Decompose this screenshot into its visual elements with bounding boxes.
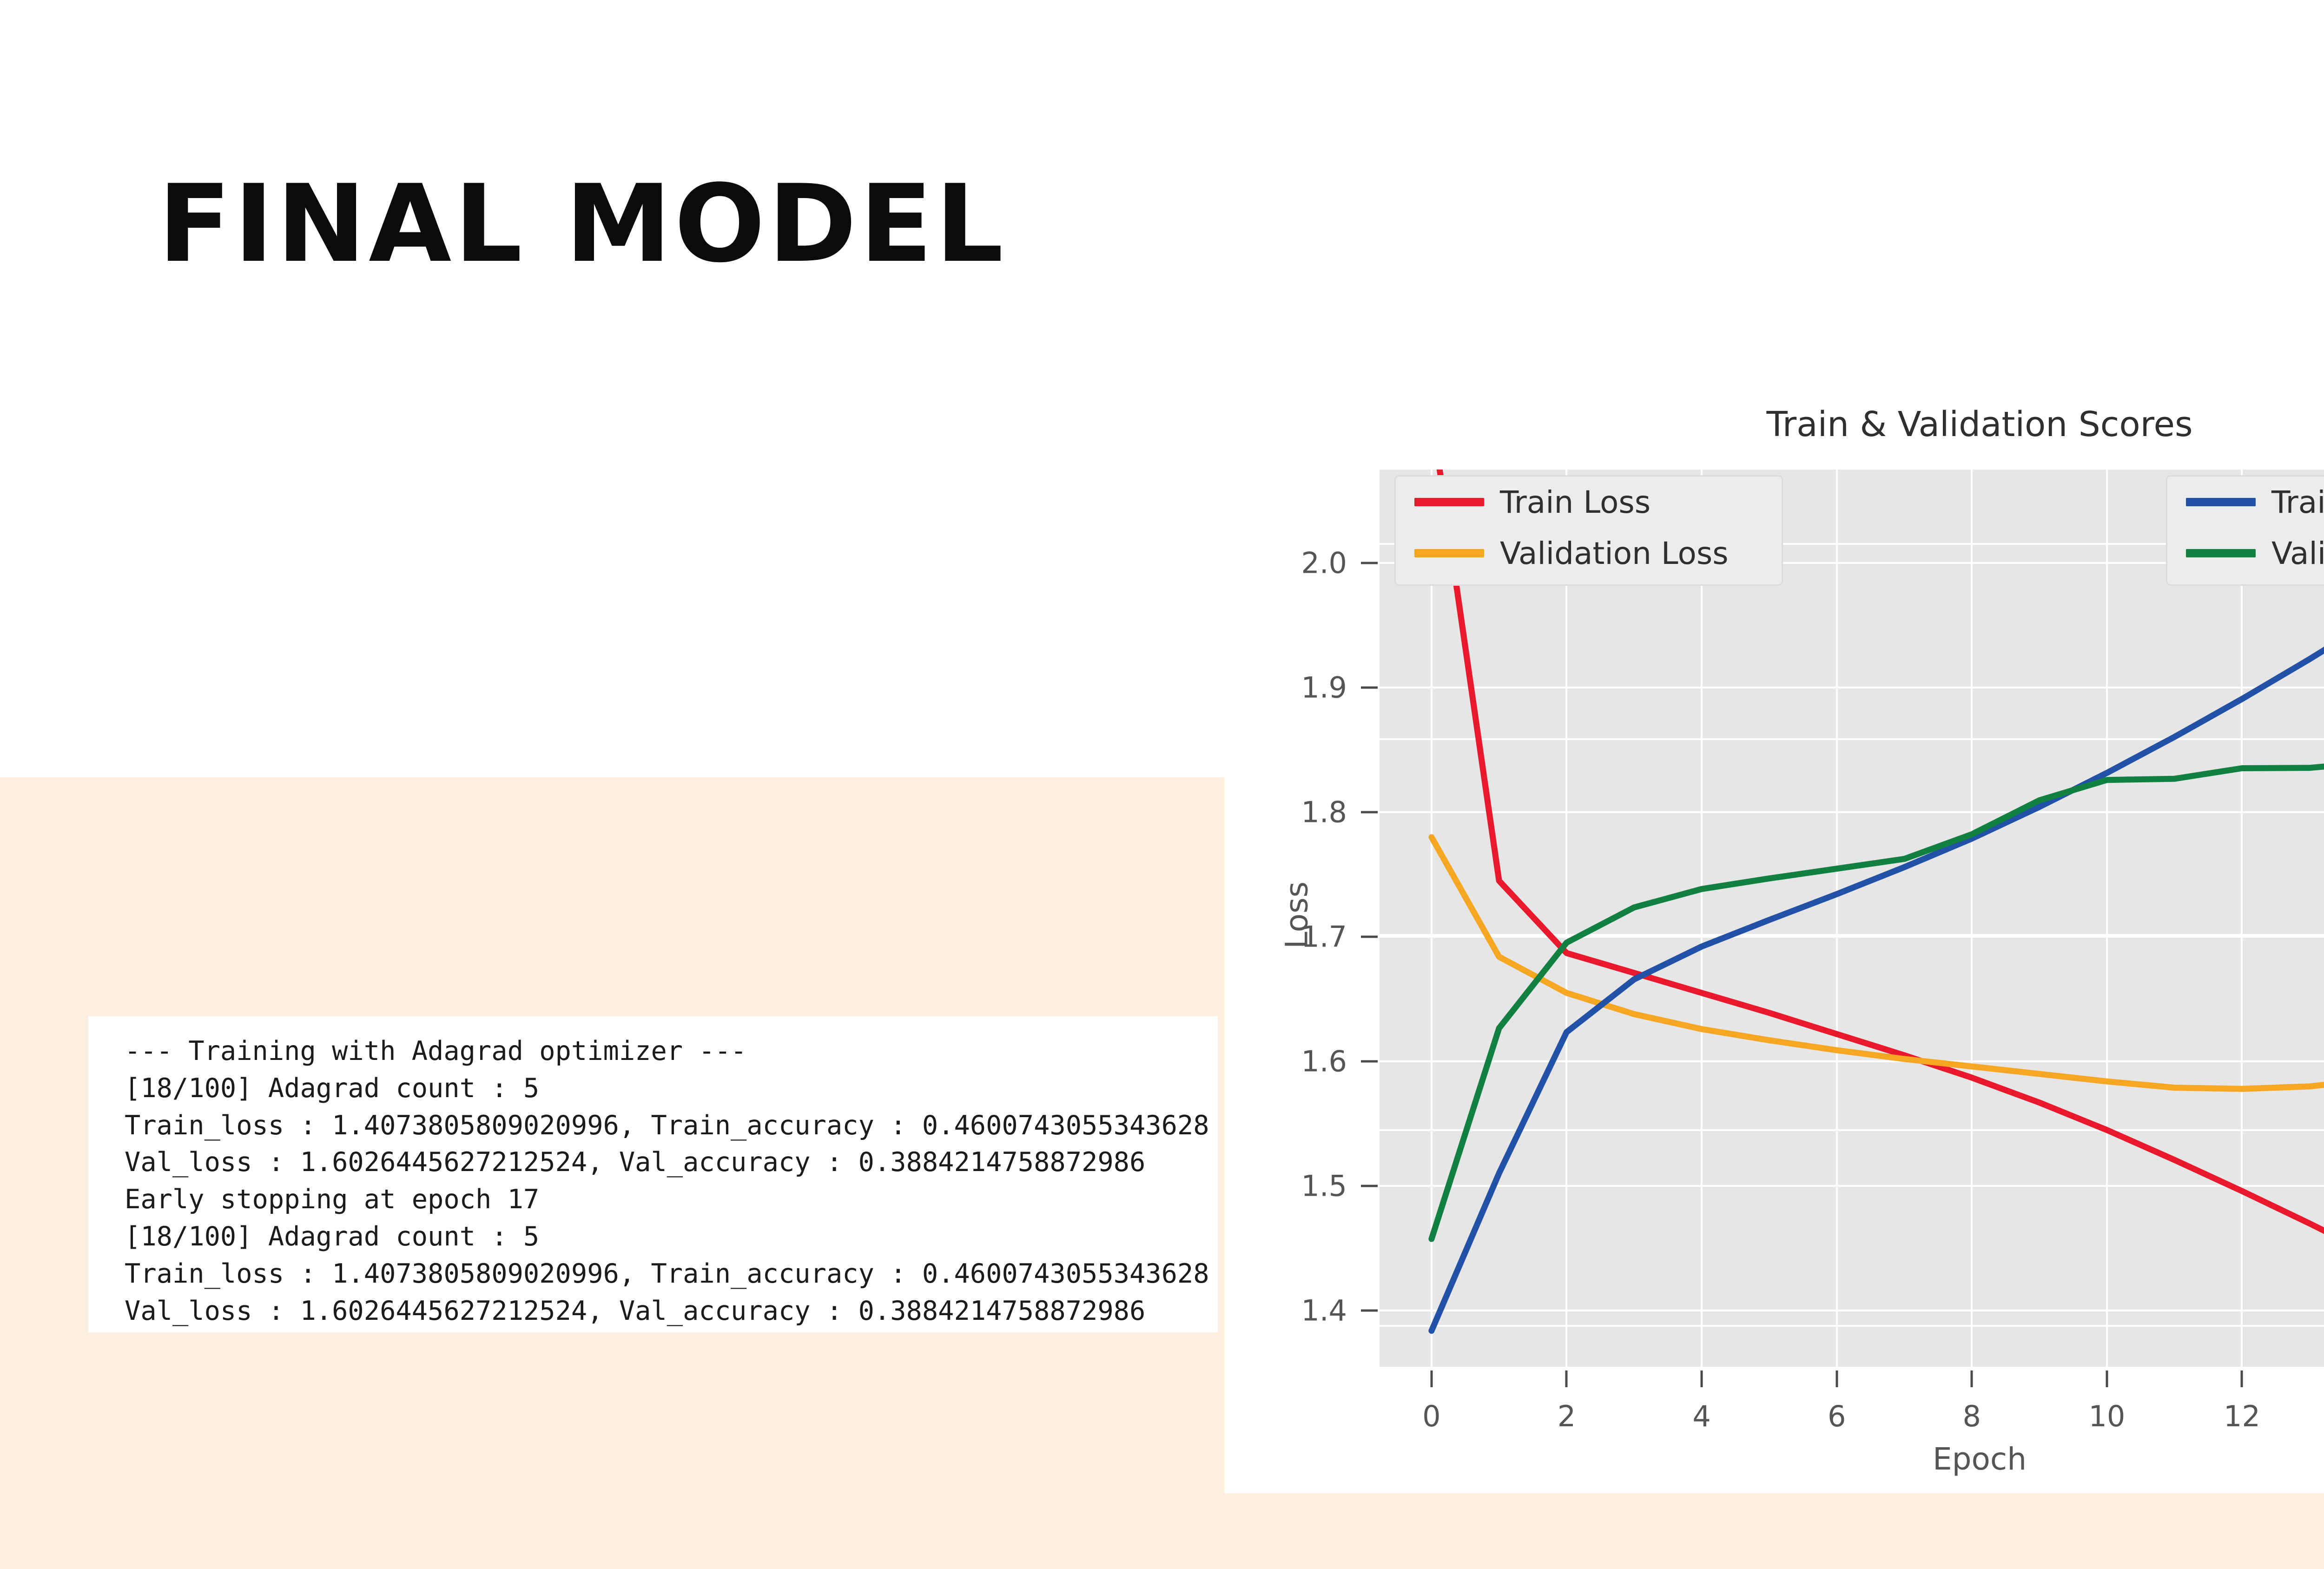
train-loss-color-swatch [1414,498,1484,506]
validation-loss-color-swatch [1414,549,1484,557]
console-output-text: --- Training with Adagrad optimizer --- … [125,1033,1209,1330]
legend-loss: Train Loss Validation Loss [1394,475,1783,586]
legend-label-train-loss: Train Loss [1500,484,1651,520]
chart-card [1225,739,2324,1493]
train-accuracy-color-swatch [2186,498,2256,506]
legend-label-validation-accuracy: Validation Accuracy [2271,536,2324,571]
legend-item-train-loss: Train Loss [1396,477,1782,528]
gridline-horizontal [1380,543,2324,545]
y-axis-tick-mark [1361,562,1378,564]
validation-accuracy-color-swatch [2186,549,2256,557]
gridline-horizontal [1380,562,2324,564]
page-title: FINAL MODEL [158,171,1006,278]
chart-title: Train & Validation Scores [1380,404,2324,444]
console-output-card: --- Training with Adagrad optimizer --- … [88,1016,1218,1332]
legend-item-train-accuracy: Train Accuracy [2167,477,2324,528]
legend-item-validation-loss: Validation Loss [1396,528,1782,579]
y-axis-tick-label: 1.9 [1240,671,1347,705]
legend-item-validation-accuracy: Validation Accuracy [2167,528,2324,579]
legend-label-validation-loss: Validation Loss [1500,536,1729,571]
legend-accuracy: Train Accuracy Validation Accuracy [2166,475,2324,586]
y-axis-tick-label: 2.0 [1240,546,1347,580]
y-axis-tick-mark [1361,687,1378,689]
legend-label-train-accuracy: Train Accuracy [2271,484,2324,520]
gridline-horizontal [1380,687,2324,689]
